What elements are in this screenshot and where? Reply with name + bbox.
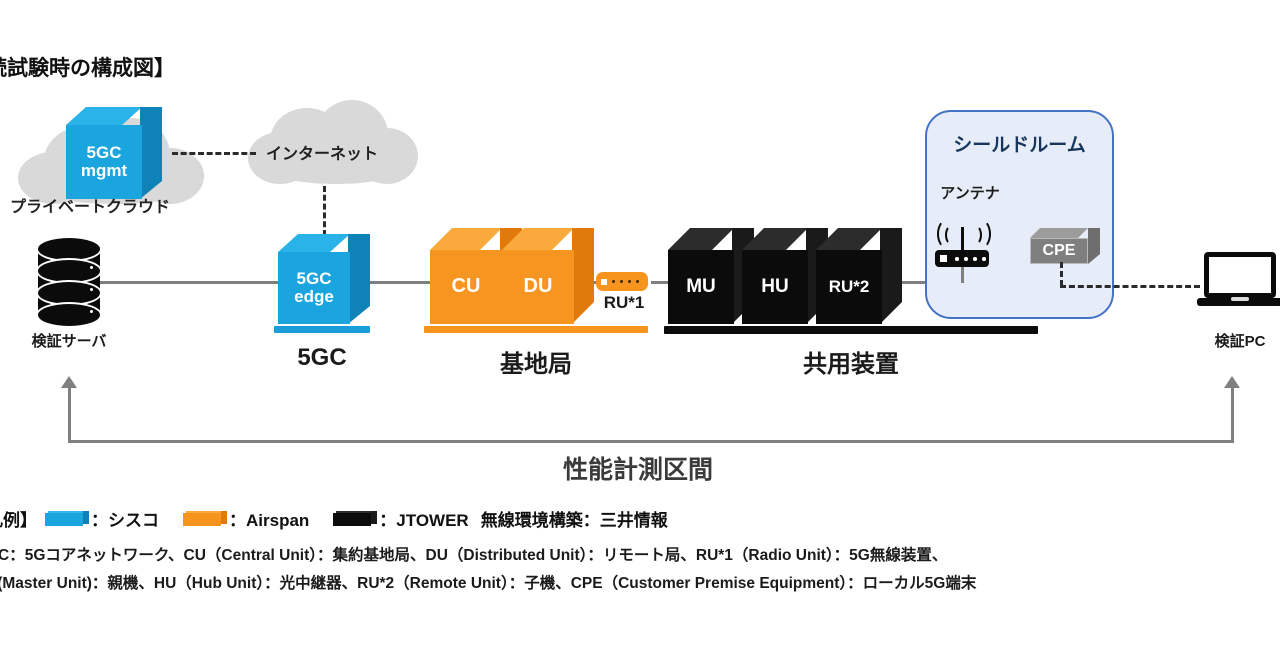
node-label-cu: CU [452,276,481,298]
node-5gc-mgmt[interactable]: 5GC mgmt [66,107,162,199]
verification-pc-label: 検証PC [1198,330,1280,351]
legend-lead-label: 凡例】 [0,506,37,531]
measurement-arrow-right [1224,376,1240,388]
group-caption-5gc: 5GC [274,344,370,372]
internet-cloud-label: インターネット [266,140,378,164]
group-caption-basestation: 基地局 [424,344,648,379]
node-cpe[interactable]: CPE [1030,228,1100,264]
shield-room-title: シールドルーム [927,130,1112,157]
node-label-cpe: CPE [1043,242,1076,260]
legend-vendor-jtower: JTOWER [396,511,468,530]
node-label-mu: MU [686,277,716,298]
node-verification-pc[interactable] [1204,252,1276,306]
legend-swatch-airspan [183,511,227,526]
legend-sep-cisco: ： [91,511,108,530]
link-server-5gcedge [100,281,280,284]
node-ru1-icon[interactable] [596,272,648,291]
link-5gcedge-cu [368,281,430,284]
node-ru2[interactable]: RU*2 [816,228,902,324]
footnote-line-2: U(Master Unit)：親機、HU（Hub Unit）：光中継器、RU*2… [0,571,976,593]
node-label-ru2: RU*2 [829,278,870,296]
antenna-icon[interactable] [935,205,989,267]
legend-extra-note: 無線環境構築：三井情報 [481,506,668,531]
node-label-hu: HU [761,277,788,298]
node-label-5gc-edge-line2: edge [294,288,334,306]
measurement-caption: 性能計測区間 [563,450,713,486]
node-label-5gc-edge-line1: 5GC [297,270,332,288]
link-cpe-verify-pc [1060,285,1200,288]
group-bar-basestation [424,326,648,333]
group-caption-shared-equipment: 共用装置 [664,344,1038,379]
group-bar-5gc [274,326,370,333]
page-title: 続試験時の構成図】 [0,52,175,82]
node-5gc-edge[interactable]: 5GC edge [278,234,370,324]
legend: 凡例】 ：シスコ ：Airspan ：JTOWER 無線環境構築：三井情報 [0,506,668,531]
legend-swatch-jtower [333,511,377,526]
link-antenna-drop [961,267,964,283]
private-cloud-label: プライベートクラウド [10,193,170,217]
diagram-canvas: 続試験時の構成図】 5GC mgmt プライベートクラウド インターネット [0,0,1280,670]
measurement-span-line [68,440,1234,443]
node-label-5gc-mgmt-line1: 5GC [87,144,122,162]
legend-swatch-cisco [45,511,89,526]
footnote-line-1: GC：5Gコアネットワーク、CU（Central Unit）：集約基地局、DU（… [0,543,947,565]
legend-sep-jtower: ： [379,511,396,530]
node-label-du: DU [524,276,553,298]
link-cpe-drop [1060,262,1063,286]
legend-vendor-cisco: シスコ [108,511,159,530]
legend-label-airspan: ：Airspan [229,506,309,531]
node-label-ru1: RU*1 [598,293,650,313]
node-label-5gc-mgmt-line2: mgmt [81,162,127,180]
node-verification-server[interactable] [38,238,100,326]
measurement-arrow-left [61,376,77,388]
link-cloud-internet [172,152,256,155]
legend-vendor-airspan: Airspan [246,511,309,530]
measurement-span-right-leg [1231,388,1234,442]
legend-label-jtower: ：JTOWER [379,506,468,531]
measurement-span-left-leg [68,388,71,442]
legend-sep-airspan: ： [229,511,246,530]
group-bar-shared-equipment [664,326,1038,334]
legend-label-cisco: ：シスコ [91,506,159,531]
verification-server-label: 検証サーバ [10,330,128,351]
antenna-label: アンテナ [922,182,1018,203]
node-du[interactable]: DU [502,228,594,324]
link-internet-5gcedge [323,186,326,236]
